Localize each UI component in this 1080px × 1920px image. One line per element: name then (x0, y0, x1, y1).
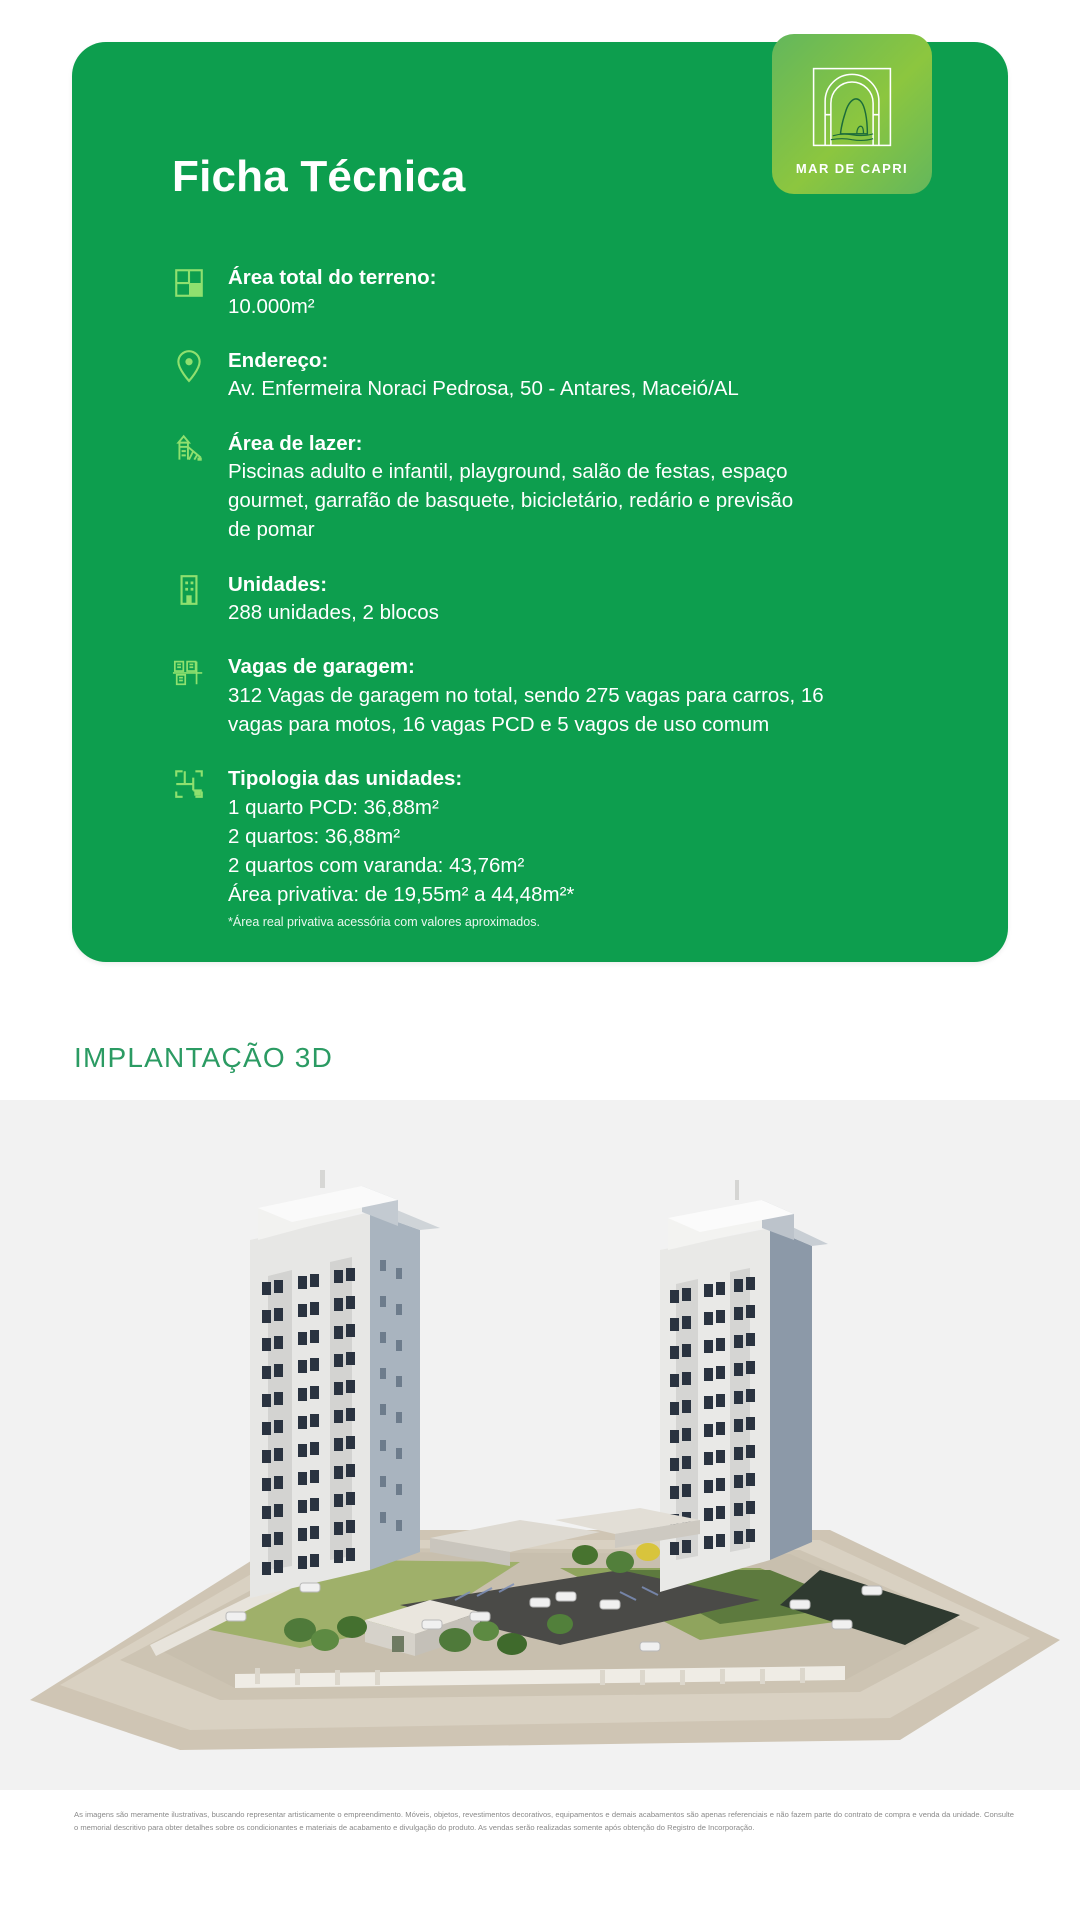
spec-value-line: vagas para motos, 16 vagas PCD e 5 vagos… (228, 710, 952, 739)
spec-label: Vagas de garagem: (228, 653, 952, 681)
spec-row-leisure: Área de lazer: Piscinas adulto e infanti… (172, 430, 952, 545)
spec-value: 10.000m² (228, 292, 952, 321)
spec-label: Área de lazer: (228, 430, 952, 458)
floorplan-icon (172, 765, 228, 932)
spec-value: Piscinas adulto e infantil, playground, … (228, 457, 952, 544)
logo-text: MAR DE CAPRI (796, 161, 908, 176)
brochure-page: Ficha Técnica MAR DE CAPRI (0, 0, 1080, 1920)
spec-value-line: 2 quartos: 36,88m² (228, 822, 952, 851)
implantacao-3d-render (0, 1100, 1080, 1790)
spec-footnote: *Área real privativa acessória com valor… (228, 914, 952, 932)
spec-label: Tipologia das unidades: (228, 765, 952, 793)
spec-row-address: Endereço: Av. Enfermeira Noraci Pedrosa,… (172, 347, 952, 404)
parking-icon (172, 653, 228, 739)
page-title: Ficha Técnica (172, 152, 466, 202)
land-area-icon (172, 264, 228, 321)
spec-label: Área total do terreno: (228, 264, 952, 292)
spec-row-parking: Vagas de garagem: 312 Vagas de garagem n… (172, 653, 952, 739)
spec-value-line: de pomar (228, 515, 952, 544)
spec-value: Av. Enfermeira Noraci Pedrosa, 50 - Anta… (228, 374, 952, 403)
arch-rock-logo-icon (804, 59, 900, 155)
spec-value: 288 unidades, 2 blocos (228, 598, 952, 627)
legal-disclaimer: As imagens são meramente ilustrativas, b… (74, 1808, 1014, 1835)
spec-value: 312 Vagas de garagem no total, sendo 275… (228, 681, 952, 739)
spec-value-line: Piscinas adulto e infantil, playground, … (228, 457, 952, 486)
spec-label: Endereço: (228, 347, 952, 375)
render-illustration (0, 1100, 1080, 1790)
spec-value-line: 312 Vagas de garagem no total, sendo 275… (228, 681, 952, 710)
spec-row-typology: Tipologia das unidades: 1 quarto PCD: 36… (172, 765, 952, 932)
location-pin-icon (172, 347, 228, 404)
building-icon (172, 571, 228, 628)
spec-value-line: Área privativa: de 19,55m² a 44,48m²* (228, 880, 952, 909)
spec-value-line: 1 quarto PCD: 36,88m² (228, 793, 952, 822)
spec-row-land-area: Área total do terreno: 10.000m² (172, 264, 952, 321)
spec-value-line: 2 quartos com varanda: 43,76m² (228, 851, 952, 880)
spec-value: 1 quarto PCD: 36,88m² 2 quartos: 36,88m²… (228, 793, 952, 932)
spec-value-line: 288 unidades, 2 blocos (228, 598, 952, 627)
spec-value-line: 10.000m² (228, 292, 952, 321)
playground-icon (172, 430, 228, 545)
ficha-tecnica-card: Ficha Técnica MAR DE CAPRI (72, 42, 1008, 962)
section-heading-implantacao-3d: IMPLANTAÇÃO 3D (74, 1042, 333, 1074)
spec-label: Unidades: (228, 571, 952, 599)
spec-list: Área total do terreno: 10.000m² Endereço… (172, 264, 952, 958)
spec-value-line: gourmet, garrafão de basquete, bicicletá… (228, 486, 952, 515)
spec-value-line: Av. Enfermeira Noraci Pedrosa, 50 - Anta… (228, 374, 952, 403)
spec-row-units: Unidades: 288 unidades, 2 blocos (172, 571, 952, 628)
logo-badge: MAR DE CAPRI (772, 34, 932, 194)
